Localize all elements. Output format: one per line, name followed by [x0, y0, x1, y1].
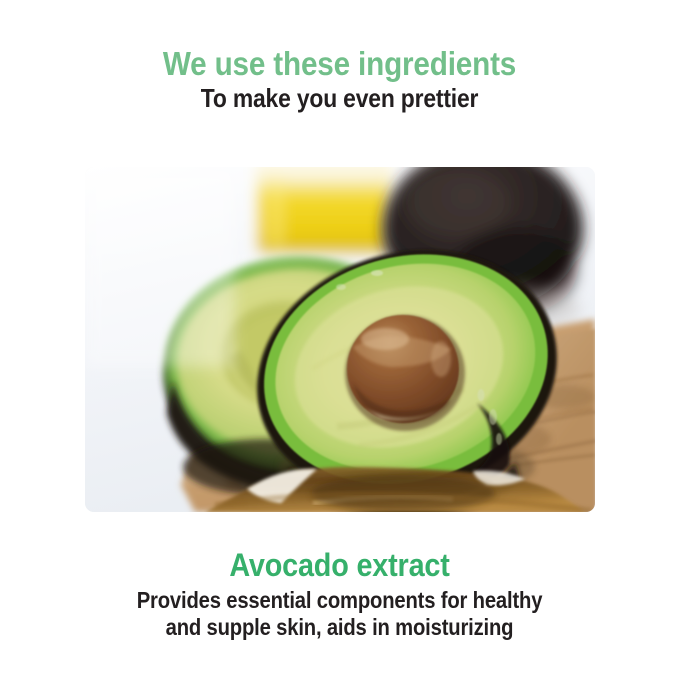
page-subtitle: To make you even prettier	[41, 84, 639, 113]
ingredient-name: Avocado extract	[34, 547, 645, 583]
ingredient-description-line-1: Provides essential components for health…	[41, 587, 639, 614]
ingredient-description-line-2: and supple skin, aids in moisturizing	[41, 614, 639, 641]
oil-glass	[253, 167, 395, 255]
photo-haze	[85, 167, 235, 367]
ingredient-infographic: We use these ingredients To make you eve…	[0, 0, 679, 679]
avocado-pit	[345, 315, 465, 431]
avocado-photo-illustration	[85, 167, 595, 512]
page-title: We use these ingredients	[34, 46, 645, 82]
header-text-block: We use these ingredients To make you eve…	[0, 46, 679, 113]
footer-text-block: Avocado extract Provides essential compo…	[0, 547, 679, 641]
avocado-photo	[85, 167, 595, 512]
